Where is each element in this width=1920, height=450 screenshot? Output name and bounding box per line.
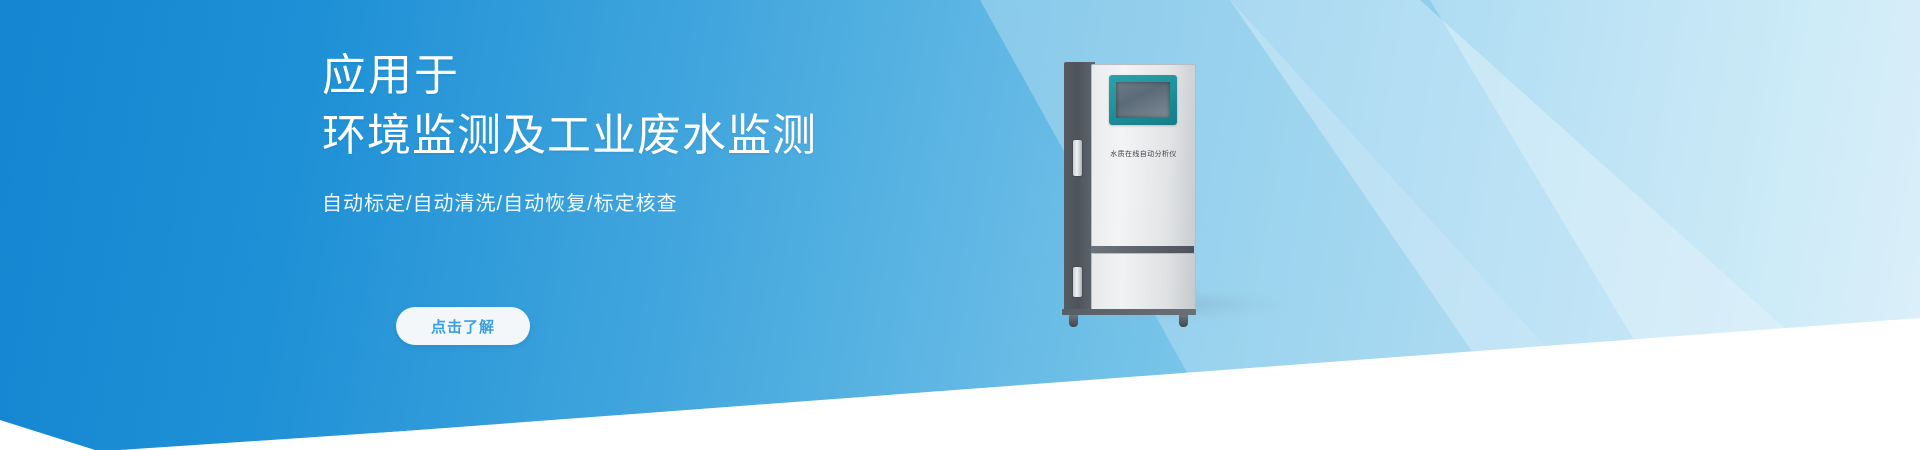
hero-subtitle: 自动标定/自动清洗/自动恢复/标定核查 — [322, 190, 1082, 218]
hero-banner: 应用于 环境监测及工业废水监测 自动标定/自动清洗/自动恢复/标定核查 点击了解… — [0, 0, 1920, 450]
cabinet-lower-body — [1091, 253, 1196, 311]
cabinet-handle-upper-icon — [1073, 140, 1082, 176]
learn-more-button[interactable]: 点击了解 — [396, 307, 530, 345]
cabinet-divider — [1091, 246, 1194, 253]
display-screen — [1116, 82, 1170, 118]
page-title: 应用于 环境监测及工业废水监测 — [322, 46, 1082, 166]
hero-copy: 应用于 环境监测及工业废水监测 自动标定/自动清洗/自动恢复/标定核查 点击了解 — [322, 46, 1082, 218]
headline-line-1: 应用于 — [322, 46, 1082, 106]
caster-right-icon — [1179, 315, 1188, 327]
cabinet-base — [1062, 309, 1196, 315]
device-panel-label: 水质在线自动分析仪 — [1092, 149, 1195, 159]
cabinet-upper-body: 水质在线自动分析仪 — [1091, 64, 1196, 248]
caster-left-icon — [1069, 315, 1078, 327]
display-bezel — [1109, 75, 1177, 125]
headline-line-2: 环境监测及工业废水监测 — [322, 106, 1082, 166]
wedge-white-bottom-left — [0, 420, 95, 450]
water-quality-analyzer-image: 水质在线自动分析仪 — [1060, 62, 1260, 324]
cabinet-handle-lower-icon — [1073, 267, 1082, 297]
